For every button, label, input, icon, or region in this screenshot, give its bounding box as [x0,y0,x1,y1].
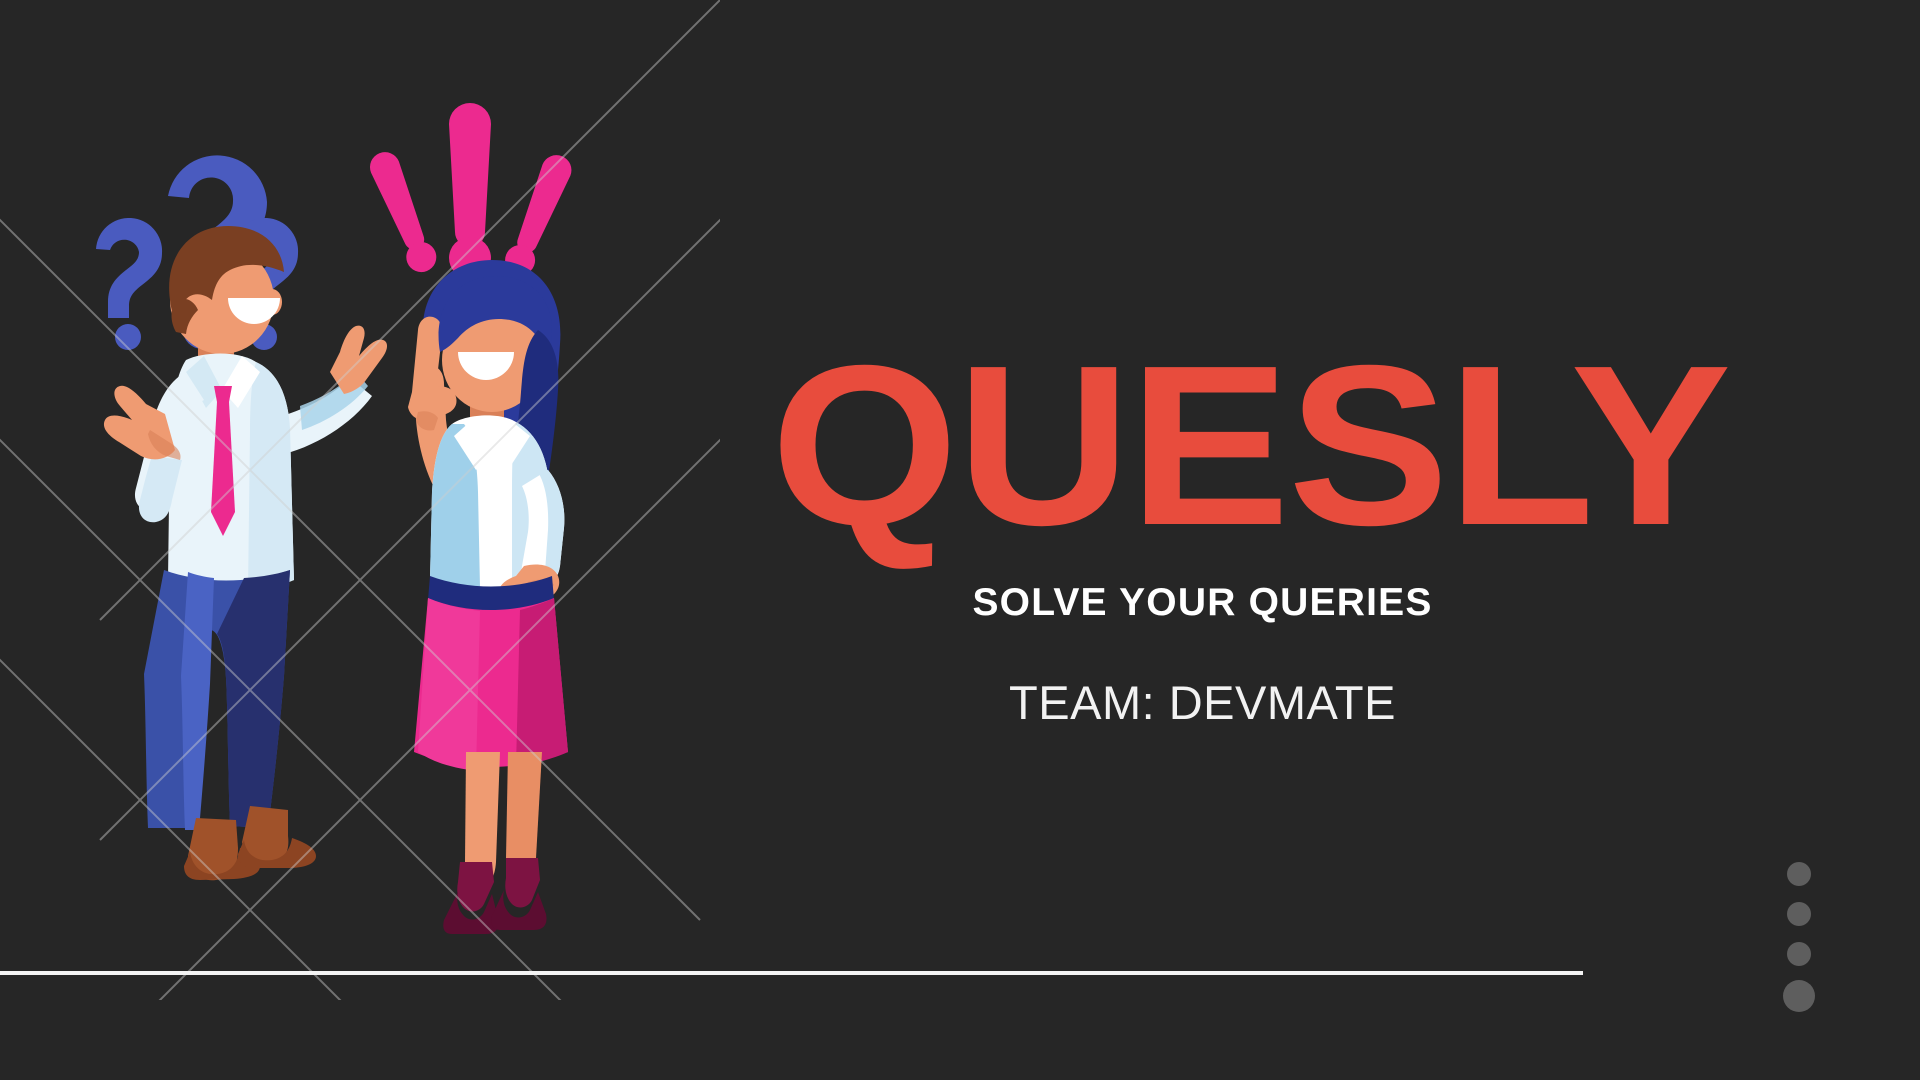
hero-illustration [0,0,720,1000]
dot-indicator[interactable] [1783,980,1815,1012]
dot-indicator-column [1777,862,1821,1012]
exclamation-marks-icon [365,103,576,280]
presentation-slide: QUESLY SOLVE YOUR QUERIES TEAM: DEVMATE [0,0,1920,1080]
brand-title: QUESLY [771,355,1635,537]
man-character [104,226,387,880]
bottom-divider-rule [0,971,1583,975]
diagonal-watermark-lines [0,0,720,1000]
dot-indicator[interactable] [1787,942,1811,966]
dot-indicator[interactable] [1787,902,1811,926]
woman-character [408,260,568,934]
team-name-label: TEAM: DEVMATE [795,625,1610,730]
dot-indicator[interactable] [1787,862,1811,886]
title-block: QUESLY SOLVE YOUR QUERIES TEAM: DEVMATE [795,355,1610,730]
